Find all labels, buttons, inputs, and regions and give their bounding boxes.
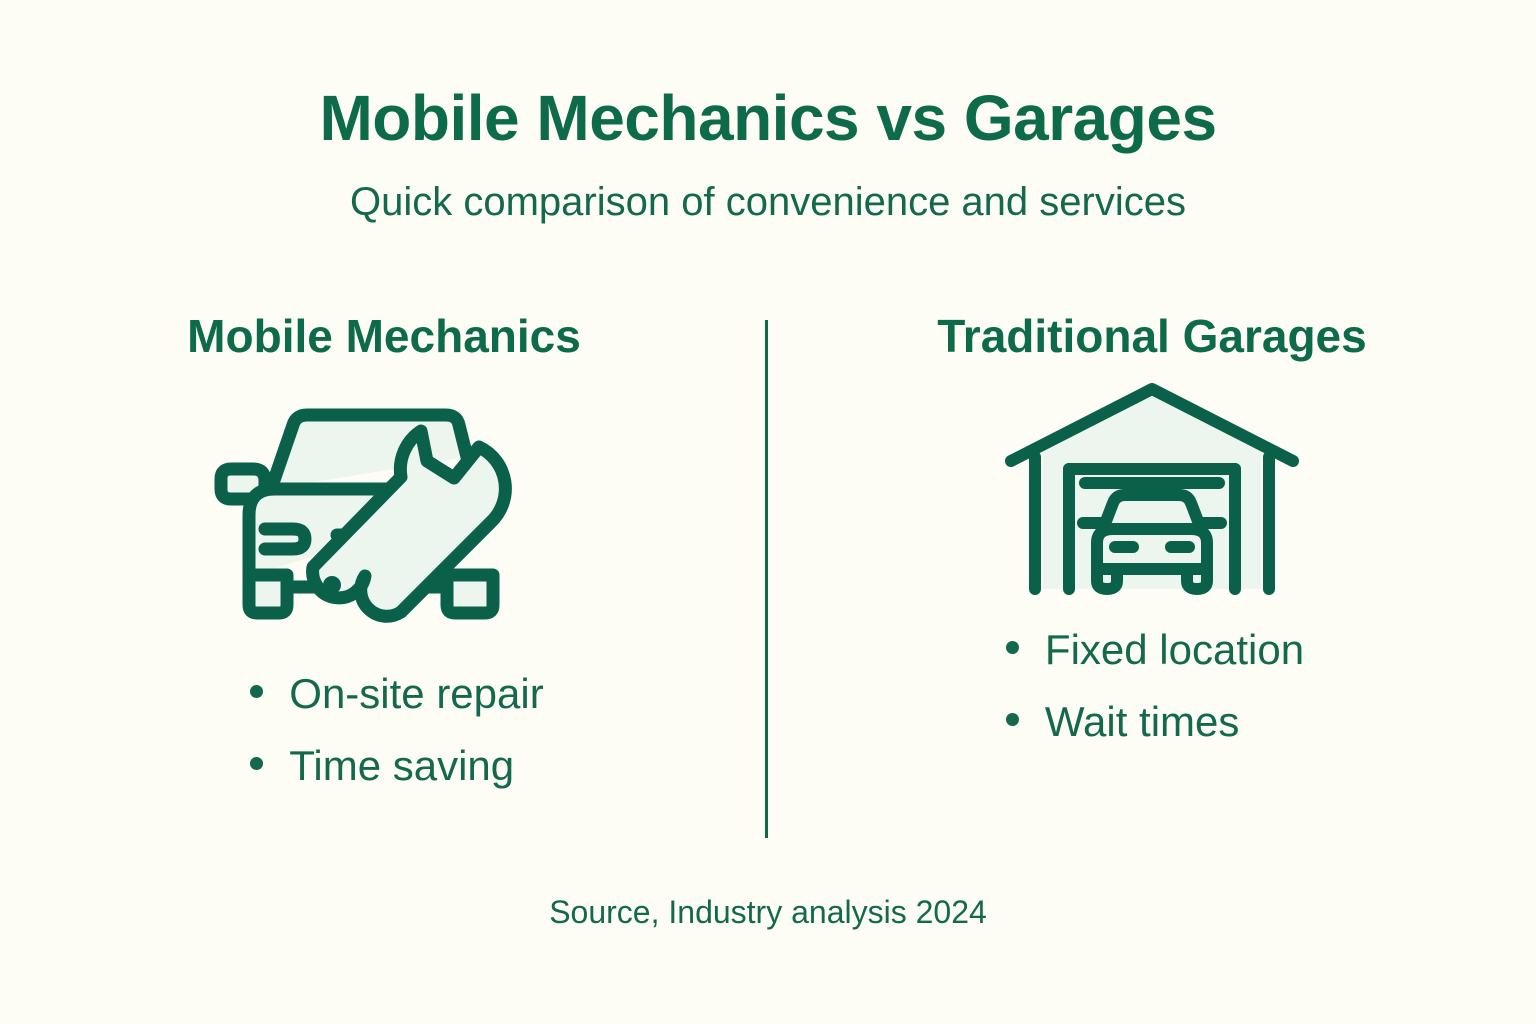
bullet-list-mobile-mechanics: On-site repair Time saving: [250, 673, 543, 817]
footer: Source, Industry analysis 2024: [0, 894, 1536, 931]
column-traditional-garages: Traditional Garages: [768, 306, 1536, 846]
bullet-item: On-site repair: [250, 673, 543, 715]
header: Mobile Mechanics vs Garages Quick compar…: [0, 84, 1536, 225]
page-subtitle: Quick comparison of convenience and serv…: [0, 179, 1536, 225]
car-with-wrench-icon: [209, 389, 559, 639]
bullet-dot-icon: [1006, 641, 1019, 654]
column-mobile-mechanics: Mobile Mechanics: [0, 306, 768, 846]
bullet-label: Time saving: [289, 745, 514, 787]
bullet-item: Time saving: [250, 745, 543, 787]
bullet-label: Wait times: [1045, 701, 1239, 743]
source-note: Source, Industry analysis 2024: [0, 894, 1536, 931]
bullet-dot-icon: [1006, 713, 1019, 726]
bullet-label: Fixed location: [1045, 629, 1304, 671]
column-heading-traditional-garages: Traditional Garages: [937, 306, 1366, 367]
icon-container-mobile-mechanics: [209, 389, 559, 639]
bullet-dot-icon: [250, 757, 263, 770]
page-title: Mobile Mechanics vs Garages: [0, 84, 1536, 153]
column-heading-mobile-mechanics: Mobile Mechanics: [187, 306, 581, 367]
wrench-pivot-dot: [323, 576, 341, 594]
bullet-dot-icon: [250, 685, 263, 698]
infographic-root: Mobile Mechanics vs Garages Quick compar…: [0, 0, 1536, 1024]
comparison-columns: Mobile Mechanics: [0, 306, 1536, 846]
bullet-item: Fixed location: [1006, 629, 1304, 671]
bullet-list-traditional-garages: Fixed location Wait times: [1006, 629, 1304, 773]
bullet-label: On-site repair: [289, 673, 543, 715]
bullet-item: Wait times: [1006, 701, 1304, 743]
icon-container-traditional-garages: [997, 383, 1307, 599]
garage-with-car-icon: [997, 383, 1307, 599]
